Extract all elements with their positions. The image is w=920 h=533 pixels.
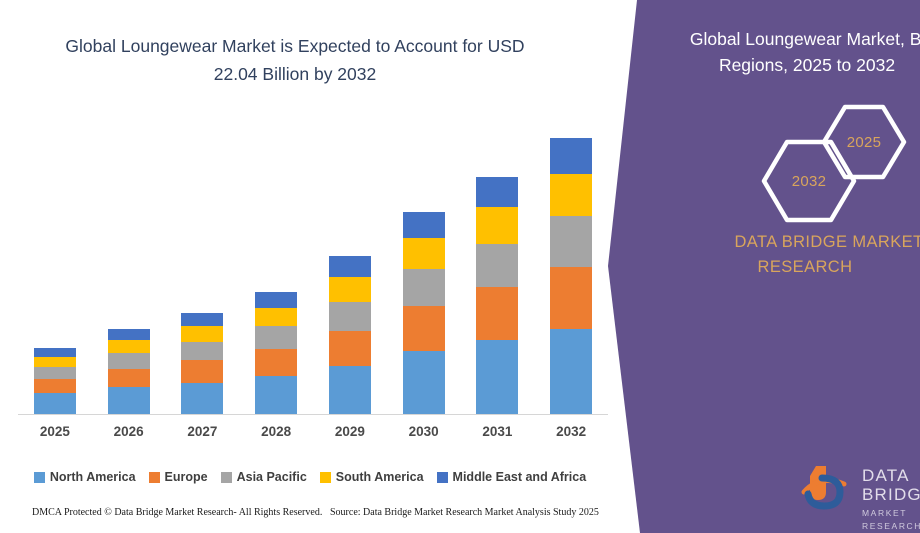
bar-segment <box>550 216 592 267</box>
bar-segment <box>34 367 76 379</box>
x-axis-label-2029: 2029 <box>313 424 387 439</box>
logo-wordmark-line-1: DATA BRIDGE <box>862 466 920 504</box>
bar-segment <box>34 393 76 414</box>
bar-segment <box>255 292 297 307</box>
legend-item[interactable]: Asia Pacific <box>221 470 307 484</box>
legend-item[interactable]: Europe <box>149 470 208 484</box>
brand-name-line-2: RESEARCH <box>640 255 920 280</box>
bar-segment <box>181 342 223 360</box>
bar-segment <box>255 326 297 348</box>
bar-column-2028 <box>239 110 313 414</box>
bar-segment <box>108 329 150 340</box>
bar-segment <box>476 207 518 244</box>
chart-region: Global Loungewear Market is Expected to … <box>0 0 620 533</box>
bar-segment <box>108 369 150 388</box>
logo-wordmark: DATA BRIDGE MARKET RESEARCH <box>862 466 920 533</box>
x-axis-label-2032: 2032 <box>534 424 608 439</box>
infographic-canvas: Global Loungewear Market, By Regions, 20… <box>0 0 920 533</box>
stacked-bar <box>403 212 445 414</box>
bar-segment <box>403 269 445 306</box>
hexagon-2032-label: 2032 <box>792 173 827 190</box>
hexagon-2025-label: 2025 <box>847 134 882 151</box>
bar-segment <box>476 244 518 288</box>
panel-heading-line-1: Global Loungewear Market, By <box>660 26 920 52</box>
stacked-bar <box>476 177 518 414</box>
brand-name-line-1: DATA BRIDGE MARKET <box>688 230 920 255</box>
chart-legend: North AmericaEuropeAsia PacificSouth Ame… <box>0 470 620 484</box>
bar-segment <box>403 351 445 414</box>
stacked-bar <box>550 138 592 414</box>
bar-segment <box>181 383 223 414</box>
bar-segment <box>181 360 223 383</box>
stacked-bar <box>181 313 223 414</box>
data-bridge-mark-icon <box>800 462 858 512</box>
legend-item[interactable]: North America <box>34 470 136 484</box>
bar-column-2027 <box>166 110 240 414</box>
bar-segment <box>403 238 445 269</box>
bar-segment <box>181 326 223 342</box>
x-axis-label-2031: 2031 <box>461 424 535 439</box>
logo-wordmark-line-2: MARKET RESEARCH <box>862 507 920 533</box>
bar-segment <box>329 331 371 366</box>
legend-label: South America <box>336 470 424 484</box>
stacked-bar <box>329 256 371 414</box>
legend-item[interactable]: South America <box>320 470 424 484</box>
legend-swatch-icon <box>437 472 448 483</box>
x-axis-label-2030: 2030 <box>387 424 461 439</box>
bar-segment <box>34 357 76 367</box>
stacked-bar <box>108 329 150 414</box>
legend-label: Europe <box>165 470 208 484</box>
legend-label: Asia Pacific <box>237 470 307 484</box>
legend-swatch-icon <box>34 472 45 483</box>
bar-column-2030 <box>387 110 461 414</box>
legend-swatch-icon <box>320 472 331 483</box>
legend-swatch-icon <box>149 472 160 483</box>
bar-segment <box>476 287 518 340</box>
bar-segment <box>34 379 76 394</box>
stacked-bar <box>255 292 297 414</box>
legend-label: North America <box>50 470 136 484</box>
bar-segment <box>476 340 518 414</box>
x-axis-label-2027: 2027 <box>166 424 240 439</box>
bar-column-2026 <box>92 110 166 414</box>
panel-heading-line-2: Regions, 2025 to 2032 <box>654 52 920 78</box>
x-axis-labels: 20252026202720282029203020312032 <box>18 424 608 439</box>
legend-swatch-icon <box>221 472 232 483</box>
chart-title-line-1: Global Loungewear Market is Expected to … <box>30 32 560 60</box>
bar-column-2032 <box>534 110 608 414</box>
bar-segment <box>255 376 297 414</box>
brand-name: DATA BRIDGE MARKET RESEARCH <box>640 230 920 280</box>
bar-segment <box>108 387 150 414</box>
bar-column-2025 <box>18 110 92 414</box>
x-axis-label-2028: 2028 <box>239 424 313 439</box>
x-axis-baseline <box>18 414 608 415</box>
plot-area <box>18 110 608 415</box>
bar-segment <box>329 256 371 277</box>
bar-segment <box>403 306 445 352</box>
hexagon-group: 2032 2025 <box>745 104 920 214</box>
x-axis-label-2025: 2025 <box>18 424 92 439</box>
data-bridge-logo: DATA BRIDGE MARKET RESEARCH <box>800 462 920 516</box>
hexagon-2025: 2025 <box>821 104 907 180</box>
bar-segment <box>329 277 371 302</box>
bar-segment <box>34 348 76 357</box>
x-axis-label-2026: 2026 <box>92 424 166 439</box>
legend-label: Middle East and Africa <box>453 470 587 484</box>
footer-copyright: DMCA Protected © Data Bridge Market Rese… <box>32 507 322 518</box>
bar-segment <box>255 308 297 327</box>
panel-heading: Global Loungewear Market, By Regions, 20… <box>660 26 920 78</box>
stacked-bar <box>34 348 76 414</box>
bar-segment <box>403 212 445 238</box>
bar-group <box>18 110 608 414</box>
chart-title: Global Loungewear Market is Expected to … <box>30 32 560 88</box>
bar-segment <box>108 340 150 353</box>
bar-segment <box>550 267 592 329</box>
bar-segment <box>329 302 371 331</box>
footer-source: Source: Data Bridge Market Research Mark… <box>330 507 599 518</box>
bar-segment <box>181 313 223 326</box>
footer: DMCA Protected © Data Bridge Market Rese… <box>0 507 620 527</box>
bar-column-2029 <box>313 110 387 414</box>
bar-segment <box>255 349 297 376</box>
bar-segment <box>550 138 592 174</box>
bar-segment <box>476 177 518 207</box>
bar-segment <box>329 366 371 414</box>
chart-title-line-2: 22.04 Billion by 2032 <box>30 60 560 88</box>
legend-item[interactable]: Middle East and Africa <box>437 470 587 484</box>
bar-segment <box>550 329 592 414</box>
bar-segment <box>550 174 592 216</box>
bar-column-2031 <box>461 110 535 414</box>
bar-segment <box>108 353 150 368</box>
